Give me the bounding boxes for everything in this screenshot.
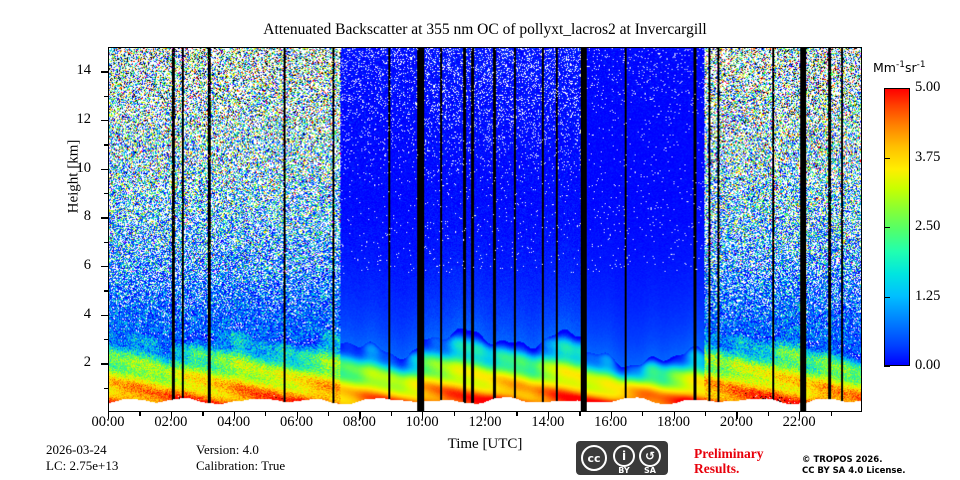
x-tick-mark-0800: [359, 412, 360, 419]
y-tick-mark-2: [101, 363, 108, 364]
x-tick-mark-0400: [234, 412, 235, 419]
creative-commons-badge[interactable]: cc i ↺ BY SA: [576, 441, 668, 475]
colorbar-tick-mark-3.75: [884, 158, 890, 159]
y-tick-label-12: 12: [51, 112, 91, 126]
cc-by-person-icon: i: [613, 445, 635, 467]
y-tick-label-8: 8: [51, 209, 91, 223]
x-tick-minor-15: [579, 412, 580, 416]
x-tick-minor-23: [831, 412, 832, 416]
x-tick-minor-17: [642, 412, 643, 416]
y-tick-mark-10: [101, 169, 108, 170]
y-tick-minor-3: [104, 339, 108, 340]
cc-icon: cc: [581, 445, 607, 471]
y-tick-mark-12: [101, 120, 108, 121]
y-tick-minor-13: [104, 96, 108, 97]
x-tick-mark-1000: [422, 412, 423, 419]
heatmap-plot-area[interactable]: [108, 47, 862, 412]
x-tick-minor-13: [516, 412, 517, 416]
colorbar-tick-mark-2.50: [884, 227, 890, 228]
copyright-notice: © TROPOS 2026. CC BY SA 4.0 License.: [802, 455, 905, 477]
preliminary-results-notice: Preliminary Results.: [694, 446, 784, 476]
y-tick-label-10: 10: [51, 161, 91, 175]
footer-calibration: Calibration: True: [196, 458, 285, 474]
y-tick-mark-6: [101, 266, 108, 267]
colorbar-tick-mark-0.00: [884, 366, 890, 367]
x-tick-mark-1200: [485, 412, 486, 419]
copyright-line-1: © TROPOS 2026.: [802, 455, 905, 466]
y-tick-minor-9: [104, 193, 108, 194]
x-tick-minor-3: [202, 412, 203, 416]
quicklook-figure: Attenuated Backscatter at 355 nm OC of p…: [0, 0, 960, 480]
x-tick-mark-2200: [799, 412, 800, 419]
x-tick-mark-2000: [736, 412, 737, 419]
colorbar-tick-label-0.00: 0.00: [915, 358, 940, 372]
x-tick-mark-1400: [548, 412, 549, 419]
x-tick-minor-9: [391, 412, 392, 416]
colorbar-tick-label-3.75: 3.75: [915, 150, 940, 164]
y-tick-mark-8: [101, 217, 108, 218]
colorbar-tick-label-5.00: 5.00: [915, 80, 940, 94]
footer-version: Version: 4.0: [196, 442, 259, 458]
y-tick-label-14: 14: [51, 63, 91, 77]
x-tick-mark-0200: [171, 412, 172, 419]
cc-sa-label: SA: [638, 466, 662, 475]
x-tick-minor-7: [328, 412, 329, 416]
y-tick-minor-5: [104, 290, 108, 291]
colorbar-unit-exp2: -1: [917, 60, 926, 70]
y-tick-minor-11: [104, 144, 108, 145]
x-tick-mark-1600: [611, 412, 612, 419]
colorbar-tick-label-1.25: 1.25: [915, 289, 940, 303]
cc-sa-sharealike-icon: ↺: [639, 445, 661, 467]
y-tick-minor-1: [104, 388, 108, 389]
colorbar-tick-label-2.50: 2.50: [915, 219, 940, 233]
colorbar-unit-sr: sr: [905, 60, 917, 75]
footer-date: 2026-03-24: [46, 442, 107, 458]
x-tick-mark-0600: [297, 412, 298, 419]
y-tick-minor-7: [104, 242, 108, 243]
x-tick-mark-1800: [674, 412, 675, 419]
colorbar-tick-mark-1.25: [884, 297, 890, 298]
y-tick-label-4: 4: [51, 307, 91, 321]
backscatter-heatmap-canvas: [109, 48, 861, 411]
colorbar-tick-mark-5.00: [884, 88, 890, 89]
x-tick-mark-0000: [108, 412, 109, 419]
x-tick-minor-1: [139, 412, 140, 416]
y-tick-mark-14: [101, 71, 108, 72]
cc-by-label: BY: [612, 466, 636, 475]
colorbar-unit-exp1: -1: [896, 60, 905, 70]
y-tick-label-2: 2: [51, 355, 91, 369]
colorbar-unit-mm: Mm: [873, 60, 896, 75]
y-tick-label-6: 6: [51, 258, 91, 272]
page-title: Attenuated Backscatter at 355 nm OC of p…: [108, 20, 862, 40]
y-tick-mark-4: [101, 315, 108, 316]
colorbar-units-label: Mm-1sr-1: [873, 60, 926, 75]
x-tick-minor-5: [265, 412, 266, 416]
x-tick-minor-19: [705, 412, 706, 416]
footer-lidar-constant: LC: 2.75e+13: [46, 458, 118, 474]
copyright-line-2: CC BY SA 4.0 License.: [802, 466, 905, 477]
x-tick-minor-21: [768, 412, 769, 416]
x-tick-minor-11: [454, 412, 455, 416]
